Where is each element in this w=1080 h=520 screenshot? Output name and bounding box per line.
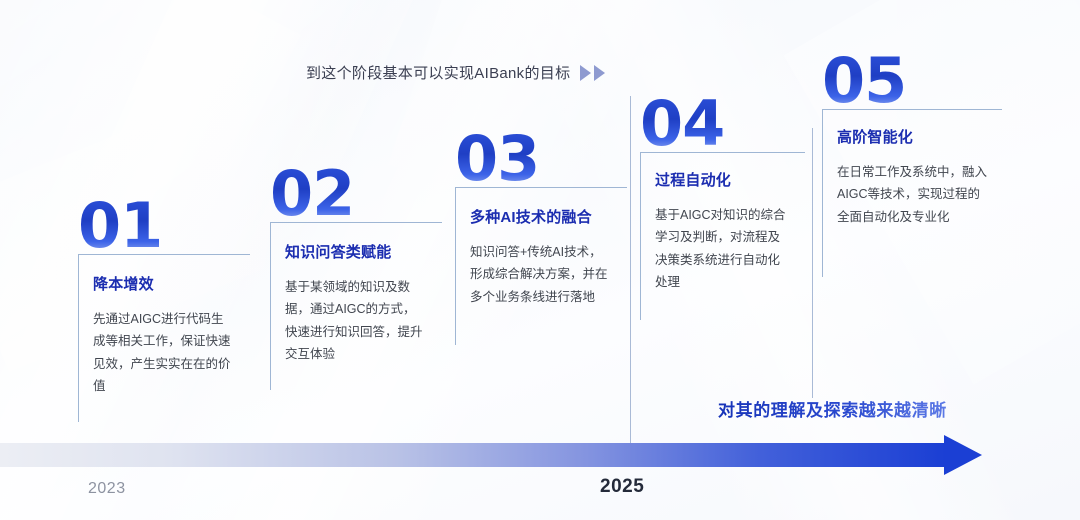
stage-card-body: 多种AI技术的融合 知识问答+传统AI技术，形成综合解决方案，并在多个业务条线进… [455,187,627,345]
stage-title: 知识问答类赋能 [285,241,428,262]
stage-card-04[interactable]: 04 过程自动化 基于AIGC对知识的综合学习及判断，对流程及决策类系统进行自动… [640,95,805,320]
timeline-year-start: 2023 [88,480,126,498]
stage-divider-line [812,128,813,398]
stage-card-05[interactable]: 05 高阶智能化 在日常工作及系统中，融入AIGC等技术，实现过程的全面自动化及… [822,52,1002,277]
stage-number: 04 [640,95,805,152]
stage-number: 03 [455,130,627,187]
stage-description: 知识问答+传统AI技术，形成综合解决方案，并在多个业务条线进行落地 [470,241,613,308]
infographic-canvas: 到这个阶段基本可以实现AIBank的目标 01 降本增效 先通过AIGC进行代码… [0,0,1080,520]
stage-card-body: 过程自动化 基于AIGC对知识的综合学习及判断，对流程及决策类系统进行自动化处理 [640,152,805,320]
header-annotation-text: 到这个阶段基本可以实现AIBank的目标 [306,62,570,83]
timeline-year-end: 2025 [600,476,644,498]
stage-description: 在日常工作及系统中，融入AIGC等技术，实现过程的全面自动化及专业化 [837,161,988,228]
stage-title: 高阶智能化 [837,126,988,147]
stage-divider-line [630,96,631,444]
stage-card-body: 知识问答类赋能 基于某领域的知识及数据，通过AIGC的方式，快速进行知识回答，提… [270,222,442,390]
stage-card-03[interactable]: 03 多种AI技术的融合 知识问答+传统AI技术，形成综合解决方案，并在多个业务… [455,130,627,345]
timeline-bar [0,443,945,467]
stage-card-02[interactable]: 02 知识问答类赋能 基于某领域的知识及数据，通过AIGC的方式，快速进行知识回… [270,165,442,390]
stage-card-body: 高阶智能化 在日常工作及系统中，融入AIGC等技术，实现过程的全面自动化及专业化 [822,109,1002,277]
stage-number: 01 [78,197,250,254]
stage-description: 基于某领域的知识及数据，通过AIGC的方式，快速进行知识回答，提升交互体验 [285,276,428,365]
tagline-text: 对其的理解及探索越来越清晰 [718,396,947,421]
header-annotation: 到这个阶段基本可以实现AIBank的目标 [306,62,605,83]
stage-card-body: 降本增效 先通过AIGC进行代码生成等相关工作，保证快速见效，产生实实在在的价值 [78,254,250,422]
stage-card-01[interactable]: 01 降本增效 先通过AIGC进行代码生成等相关工作，保证快速见效，产生实实在在… [78,197,250,422]
arrow-right-icon [944,435,982,475]
stage-description: 基于AIGC对知识的综合学习及判断，对流程及决策类系统进行自动化处理 [655,204,791,293]
stage-title: 多种AI技术的融合 [470,206,613,227]
stage-description: 先通过AIGC进行代码生成等相关工作，保证快速见效，产生实实在在的价值 [93,308,236,397]
double-chevron-right-icon [580,65,605,81]
stage-title: 降本增效 [93,273,236,294]
stage-title: 过程自动化 [655,169,791,190]
timeline-axis [0,443,1080,469]
stage-number: 05 [822,52,1002,109]
stage-number: 02 [270,165,442,222]
